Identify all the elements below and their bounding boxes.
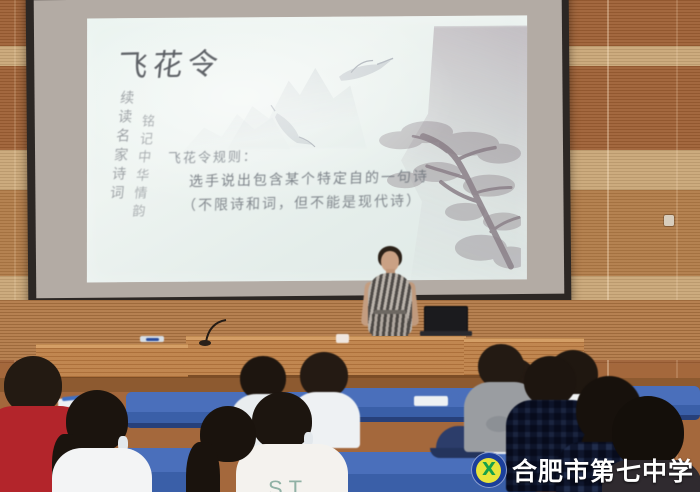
slide-rule-block: 飞花令规则： 选手说出包含某个特定自的一句诗 （不限诗和词，但不能是现代诗） [166, 142, 431, 216]
projection-screen-mat: 飞花令 续读名家诗词 铭记中华情韵 飞花令规则： 选手说出包含某个特定自的一句诗… [34, 0, 565, 298]
desk-paper-center [414, 396, 448, 406]
projected-slide: 飞花令 续读名家诗词 铭记中华情韵 飞花令规则： 选手说出包含某个特定自的一句诗… [87, 15, 527, 282]
laptop-screen [424, 306, 468, 334]
student-red-left [0, 356, 52, 414]
student-ponytail-front [60, 390, 122, 452]
photo-scene: 飞花令 续读名家诗词 铭记中华情韵 飞花令规则： 选手说出包含某个特定自的一句诗… [0, 0, 700, 492]
student-st-shirt: ST [252, 392, 312, 450]
slide-title: 飞花令 [116, 39, 226, 86]
student-grey-hoodie [478, 344, 524, 388]
school-name-watermark: 合肥市第七中学 [512, 452, 694, 488]
slide-rule-heading: 飞花令规则： [168, 142, 431, 167]
projection-screen-frame: 飞花令 续读名家诗词 铭记中华情韵 飞花令规则： 选手说出包含某个特定自的一句诗… [26, 0, 572, 306]
watermark: X 合肥市第七中学 [471, 452, 694, 488]
ledge-paper [336, 334, 349, 343]
wall-outlet [664, 215, 674, 226]
student-front-left-edge [200, 406, 256, 462]
microphone-icon [186, 318, 232, 346]
shirt-text-st: ST [268, 476, 308, 492]
school-logo-icon: X [471, 452, 507, 488]
student-plaid-1 [524, 356, 576, 406]
ledge-marker [146, 338, 159, 341]
school-logo-letter: X [482, 461, 496, 479]
slide-rule-line-1: 选手说出包含某个特定自的一句诗 [189, 166, 430, 191]
